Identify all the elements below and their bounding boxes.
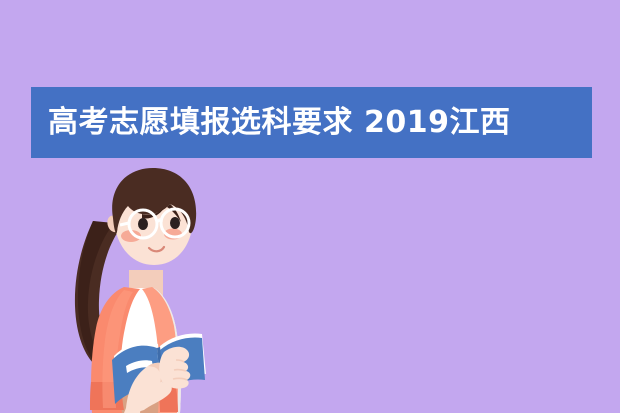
glasses-temple: [120, 223, 129, 225]
title-banner: 高考志愿填报选科要求 2019江西: [31, 87, 592, 158]
banner-canvas: 高考志愿填报选科要求 2019江西: [0, 0, 620, 413]
eye-left: [138, 218, 148, 230]
woman-reading-svg: [30, 160, 240, 413]
glasses-bridge: [157, 220, 161, 222]
eye-right: [170, 217, 180, 229]
woman-reading-illustration: [30, 160, 240, 413]
banner-title-text: 高考志愿填报选科要求 2019江西: [48, 108, 510, 138]
